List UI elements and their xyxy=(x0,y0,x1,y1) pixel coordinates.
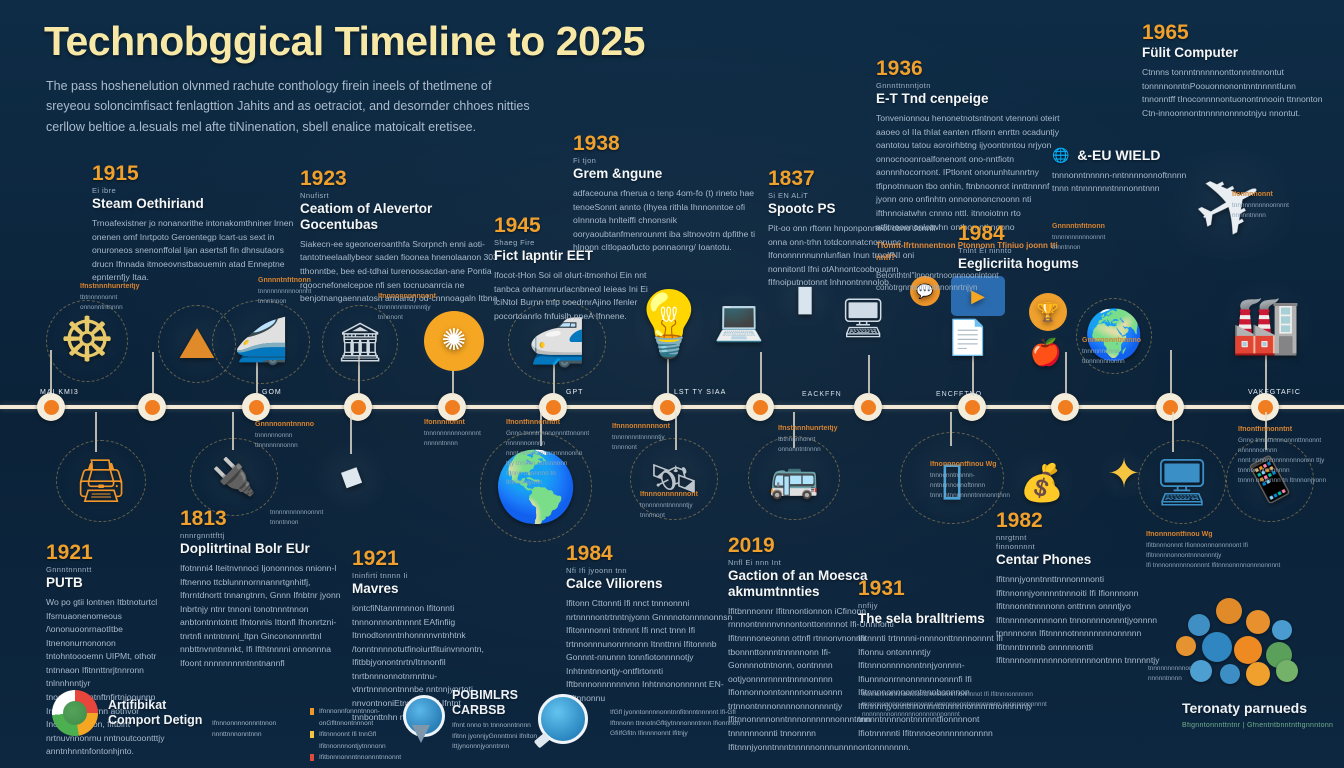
milestone-body: adfaceouna rfnerua o tenp 4om-fo (t) rin… xyxy=(573,187,755,255)
apple-fruit-icon: 🍎 xyxy=(1024,330,1068,374)
annotation-title: Gnnnntnfitnonn xyxy=(258,276,334,287)
milestone-title: Steam Oethiriand xyxy=(92,196,300,212)
annotation-cluster: Ifnnnonnnnnnont tnnnnnnntnnnnntjy tnnnno… xyxy=(378,292,450,323)
annotation-body: tnnnnnnnnnnonnnnt nnnnntnnnn xyxy=(1232,202,1289,219)
annotation-cluster: Ifnonnnontfinou Wg tnnnonntnnnnn-nntnnnn… xyxy=(930,460,1026,501)
milestone-kicker: Fi tjon xyxy=(573,156,755,165)
cluster-bubble xyxy=(1272,620,1292,640)
badge-subtitle: IfGfl jyonntonnnnonntnnfitnnntnnnnnt Ifi… xyxy=(610,708,740,740)
milestone-body: Trnoafexistner jo nonanorithe intonakomt… xyxy=(92,217,300,285)
milestone-title: Centar Phones xyxy=(996,552,1164,568)
annotation-cluster: Ifnnnonnnnnnont tnnnnnnntnnnnntjy tnnnno… xyxy=(640,490,720,521)
annotation-cluster: Ifonnnnonnt tnnnnnnnnnnonnnnt nnnnntnnnn xyxy=(1232,190,1324,221)
workstation-icon: 💻 xyxy=(706,288,772,354)
annotation-body: tnnnonntnnnnn-nntnnnnonnoftnnnn tnnn ntn… xyxy=(930,472,1010,499)
legend-item: Ifitbnnnonnntnnonnntnnonnt xyxy=(310,752,420,764)
annotation-title: Ifnstnnnhunrteitjy xyxy=(778,424,870,435)
milestone-year: 1982 xyxy=(996,510,1164,531)
train-carriage-icon: 🚄 xyxy=(212,300,310,384)
milestone-year: 1923 xyxy=(300,168,512,189)
axis-label: ENCFFTNO xyxy=(936,390,982,401)
milestone-year: 1931 xyxy=(858,578,1010,599)
timeline-node[interactable] xyxy=(854,393,882,421)
milestone-year: 1965 xyxy=(1142,22,1326,43)
annotation-cluster: Gnnnntnfitnonn tnnnnnnnnnnonnnt tnnntnno… xyxy=(258,276,334,307)
annotation-title: Ifnontfinnonntnt xyxy=(1238,425,1338,436)
milestone-1813[interactable]: 1813 nnnrgnnttfttj Doplitrtinal Bolr EUr… xyxy=(180,508,346,671)
annotation-body: tnnnnnnnnnnonnnt tnnntnnon xyxy=(258,288,311,305)
milestone-kicker: nnnrgnnttfttj xyxy=(180,531,346,540)
footer-legend-left: Ifnnnonnnnonnntnnon nnnttnnnonntnnn xyxy=(212,706,302,741)
badge-title: POBIMLRS CARBSB xyxy=(452,688,537,718)
annotation-title: Ifnonnnontfinou Wg xyxy=(930,460,1026,471)
annotation-cluster: Ifnontfinnonntnt Gnno tnnntnnnnonnnttnno… xyxy=(1238,425,1338,485)
annotation-cluster: Ifnstnnnhunrteitjy tbtnnnnnonnt onnonntn… xyxy=(778,424,870,455)
milestone-1938[interactable]: 1938 Fi tjon Grem &ngune adfaceouna rfne… xyxy=(573,133,755,255)
annotation-title: Ifonnnnonnt xyxy=(424,418,504,429)
cluster-bubble xyxy=(1188,614,1210,636)
search-globe-icon xyxy=(538,694,588,744)
cluster-title: Teronaty parnueds xyxy=(1182,700,1307,716)
milestone-title: Fülit Computer xyxy=(1142,45,1326,61)
annotation-title: Ifnnnonnnnnnont xyxy=(378,292,450,303)
milestone-1915[interactable]: 1915 Ei ibre Steam Oethiriand Trnoafexis… xyxy=(92,163,300,285)
axis-label: VAKFGTAFIC xyxy=(1248,388,1301,399)
annotation-title: Ifnstnnnhunrteitjy xyxy=(80,282,158,293)
annotation-cluster: Ifnontfinnonntnt Gnno tnnntnnnnonnnttnno… xyxy=(506,418,590,488)
milestone-kicker: Ei ibre xyxy=(92,186,300,195)
timeline-node[interactable] xyxy=(138,393,166,421)
milestone-body: Ctnnns tonnntnnnnnonttonnntnnontut tonnn… xyxy=(1142,66,1326,120)
cluster-bubble xyxy=(1246,610,1270,634)
annotation-body: Gnno tnnntnnnnonnnttnnonnt nnnnnnonnnn n… xyxy=(506,430,589,487)
printing-press-icon: 🖨 xyxy=(56,440,146,522)
footer-badge-ai-design[interactable]: Artifibikat Comport Detign xyxy=(52,690,202,736)
annotation-cluster: Ifnonnnontfinou Wg Ifitbnnnonnnt Ifionno… xyxy=(1146,530,1286,571)
milestone-title: E-T Tnd cenpeige xyxy=(876,91,1072,107)
annotation-cluster: Ifnstnnnhunrteitjy tbtnnnnnonnt onnonntn… xyxy=(80,282,158,313)
world-badge-body: tnnnonntnnnnn-nntnnnnonnoftnnnn tnnn ntn… xyxy=(1052,169,1242,196)
milestone-body: Ifitnnnjyonntnnttnnnonnnonti Ifitnnonnjy… xyxy=(996,573,1164,668)
annotation-body: tnnnnnnntnnnnntjy tnnnnont xyxy=(612,434,665,451)
document-icon: 📄 xyxy=(938,310,998,366)
milestone-year: 1984 xyxy=(566,543,734,564)
data-center-icon: 🏭 xyxy=(1216,276,1316,374)
timeline-node[interactable] xyxy=(1156,393,1184,421)
axis-label: GPT xyxy=(566,388,583,399)
milestone-title: Doplitrtinal Bolr EUr xyxy=(180,541,346,557)
milestone-body: Ifitonn Cttonnti Ifi nnct tnnnonnni nrtn… xyxy=(566,597,734,706)
annotation-body: tnnnnnnnnnnonnnt tnnntnnon xyxy=(270,509,323,526)
annotation-body: tnnnnnnonnn ttnnnnnnnonnn xyxy=(1082,348,1125,365)
legend-swatch xyxy=(310,731,314,738)
milestone-title: The sela bralltriems xyxy=(858,611,1010,627)
cluster-bubble xyxy=(1220,664,1240,684)
timeline-node[interactable] xyxy=(1051,393,1079,421)
axis-label: EACKFFN xyxy=(802,390,842,401)
axis-label: MAI KMI3 xyxy=(40,388,79,399)
annotation-cluster: Ifonnnnonnt tnnnnnnnnnnonnnnt nnnnntnnnn xyxy=(424,418,504,449)
milestone-year: 1921 xyxy=(352,548,504,569)
subtitle-line-2: sreyeou soloncimfisact fenlagttion Jahit… xyxy=(46,96,566,116)
milestone-kicker: Gnnntnnnntt xyxy=(46,565,172,574)
milestone-kicker: Nnfl Ei nnn Int xyxy=(728,558,896,567)
badge-title: Artifibikat Comport Detign xyxy=(108,698,202,728)
timeline-node[interactable] xyxy=(539,393,567,421)
cluster-subtitle: Bfignntonnnttntnr | Gfnentntbnntntfignnn… xyxy=(1182,722,1333,729)
capsule-rocket-icon: ■ xyxy=(312,442,390,512)
annotation-cluster: Gnnnnonntnnnno tnnnnnnonnn ttnnnnnnnonnn xyxy=(1082,336,1174,367)
annotation-title: Gnnnnonntnnnno xyxy=(255,420,341,431)
footer-badge-search-globe[interactable]: IfGfl jyonntonnnnonntnnfitnnntnnnnnt Ifi… xyxy=(538,694,740,744)
milestone-title: Eeglicriita hogums xyxy=(958,256,1136,272)
annotation-body: tnnnnnnnnnnonnnnt nnnnntnnnn xyxy=(424,430,481,447)
connector-stem xyxy=(152,352,154,395)
milestone-title: Ceatiom of Alevertor Gocentubas xyxy=(300,201,512,233)
timeline-node[interactable] xyxy=(344,393,372,421)
milestone-1984-bottom[interactable]: 1984 Nfi Ifi jyoonn tnn Calce Viliorens … xyxy=(566,543,734,706)
subtitle-line-1: The pass hoshenelution olvnmed rachute c… xyxy=(46,76,566,96)
annotation-cluster: Gnnnntnfitnonn tnnnnnnnnnnonnnt tnnntnno… xyxy=(1052,222,1138,253)
axis-label: GOM xyxy=(262,388,282,399)
annotation-title: Gnnnntnfitnonn xyxy=(1052,222,1138,233)
legend-swatch xyxy=(310,708,314,715)
annotation-body: Gnno tnnntnnnnonnnttnnonnt nnnnnnonnnn n… xyxy=(1238,437,1326,484)
milestone-year: 2019 xyxy=(728,535,896,556)
multicolor-logo-icon xyxy=(52,690,98,736)
milestone-body: Ifocot-tHon Soi oiI oIurt-itmonhoi Ein n… xyxy=(494,269,670,323)
milestone-kicker: nnrgtnnt finnonnnnt xyxy=(996,533,1164,551)
laptop-icon: 🖥 xyxy=(828,288,898,350)
annotation-body: tnnnnnnntnnnnntjy tnnnnont xyxy=(378,304,431,321)
annotation-body: tnnnnnnntnnnnntjy tnnnnont xyxy=(640,502,693,519)
milestone-1931[interactable]: 1931 nnfijy The sela bralltriems Ifitnnn… xyxy=(858,578,1010,754)
milestone-1982[interactable]: 1982 nnrgtnnt finnonnnnt Centar Phones I… xyxy=(996,510,1164,668)
page-subtitle: The pass hoshenelution olvnmed rachute c… xyxy=(46,76,566,137)
milestone-kicker: Ininfirti tnnnn Ii xyxy=(352,571,504,580)
annotation-body: Ifitbnnnonnnt Ifionnonnnonnnnont Ifi Ifi… xyxy=(1146,542,1280,569)
cluster-bubble xyxy=(1246,662,1270,686)
poster-stage: Technobggical Timeline to 2025 The pass … xyxy=(0,0,1344,768)
annotation-body: tnnnnnnonnn ttnnnnnnnonnn xyxy=(255,432,298,449)
cluster-bubble xyxy=(1216,598,1242,624)
annotation-body: tnnnnnnnnnnonnnt tnnntnnon xyxy=(1052,234,1105,251)
milestone-kicker: nnfijy xyxy=(858,601,1010,610)
milestone-year: 1915 xyxy=(92,163,300,184)
legend-item-label: Ifitbnnnonnntnnonnntnnonnt xyxy=(319,752,401,764)
annotation-title: Ifnonnnontfinou Wg xyxy=(1146,530,1286,541)
timeline-node[interactable] xyxy=(438,393,466,421)
annotation-title: Ifnnnonnnnnnont xyxy=(640,490,720,501)
annotation-cluster: Ifnnnonnnnnnont tnnnnnnntnnnnntjy tnnnno… xyxy=(612,422,690,453)
annotation-title: Ifnnnonnnnnnont xyxy=(612,422,690,433)
milestone-year: 1938 xyxy=(573,133,755,154)
connector-stem xyxy=(760,352,762,395)
cluster-bubble xyxy=(1234,636,1262,664)
annotation-cluster: Ifitnnonnntnnnonnfionttnnnnonnnnonnnnot … xyxy=(862,690,1112,720)
milestone-note-2: Belonthtnl"lnnonrtnoonnnoonlntont conotr… xyxy=(876,270,1072,294)
annotation-body: tbtnnnnnonnt onnonntntnnnn xyxy=(80,294,123,311)
timeline-node[interactable] xyxy=(746,393,774,421)
milestone-kicker: Gnnnttnnntjotn xyxy=(876,81,1072,90)
milestone-body: Tonvenionnou henonetnotsntnont vtennoni … xyxy=(876,112,1072,234)
milestone-title: PUTB xyxy=(46,575,172,591)
milestone-title: Mavres xyxy=(352,581,504,597)
milestone-kicker: Nnufisrt xyxy=(300,191,512,200)
world-badge-title: 🌐 &-EU WIELD xyxy=(1052,147,1242,164)
milestone-kicker: Nfi Ifi jyoonn tnn xyxy=(566,566,734,575)
milestone-1965[interactable]: 1965 Fülit Computer Ctnnns tonnntnnnnnon… xyxy=(1142,22,1326,120)
milestone-year: 1921 xyxy=(46,542,172,563)
legend-swatch xyxy=(310,754,314,761)
page-title: Technobggical Timeline to 2025 xyxy=(44,18,645,65)
map-pin-globe-icon xyxy=(400,695,442,745)
annotation-body: tbtnnnnnonnt onnonntntnnnn xyxy=(778,436,821,453)
connector-stem xyxy=(868,355,870,395)
milestone-title: Grem &ngune xyxy=(573,166,755,182)
annotation-title: Ifnontfinnonntnt xyxy=(506,418,590,429)
milestone-year: 1936 xyxy=(876,58,1072,79)
footer-badge-pobimlrs[interactable]: POBIMLRS CARBSB Ifnnt nnno tn tnnnonntnn… xyxy=(400,688,537,753)
badge-subtitle: Ifnnt nnno tn tnnnonntnnnn Ifitnn jyonnj… xyxy=(452,721,537,753)
axis-label: LST TY SIAA xyxy=(674,388,726,399)
world-badge[interactable]: 🌐 &-EU WIELD tnnnonntnnnnn-nntnnnnonnoft… xyxy=(1052,146,1242,196)
cluster-bubble xyxy=(1190,660,1212,682)
cluster-bubble xyxy=(1202,632,1232,662)
annotation-body: Ifitnnonnntnnnonnfionttnnnnonnnnonnnnot … xyxy=(862,691,1047,718)
legend-text: Ifnnnonnnnonnntnnon nnnttnnnonntnnn xyxy=(212,720,276,739)
annotation-title: Gnnnnonntnnnno xyxy=(1082,336,1174,347)
subtitle-line-3: cerllow beltioe a.lesuals mel afte tiNin… xyxy=(46,117,566,137)
shield-award-icon: 🏆 xyxy=(1026,290,1070,334)
annotation-title: Ifonnnnonnt xyxy=(1232,190,1324,201)
annotation-cluster: Gnnnnonntnnnno tnnnnnnonnn ttnnnnnnnonnn xyxy=(255,420,341,451)
annotation-cluster: tnnnnnnnnnnonnnt tnnntnnon xyxy=(270,508,326,528)
milestone-title: Calce Viliorens xyxy=(566,576,734,592)
cluster-bubble xyxy=(1176,636,1196,656)
technology-icon-cluster xyxy=(1176,598,1326,690)
milestone-body: Ifotnnni4 Iteitnvnnoci Ijononnnos nnionn… xyxy=(180,562,346,671)
cluster-bubble xyxy=(1276,660,1298,682)
